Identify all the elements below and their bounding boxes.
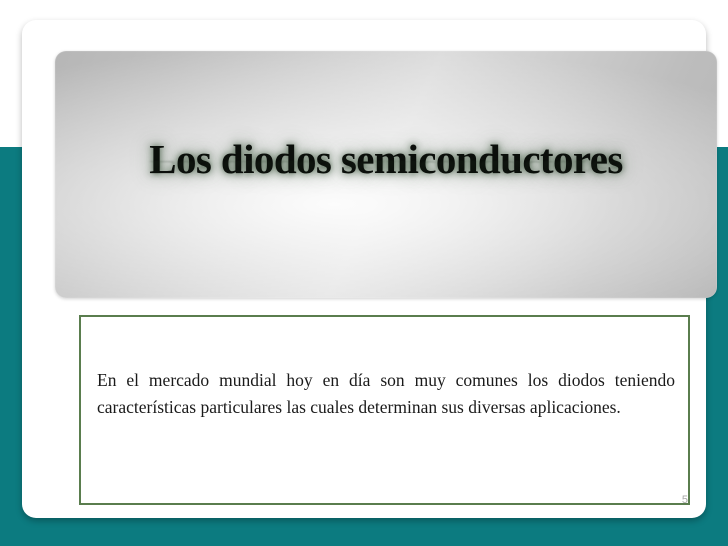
body-text-box: En el mercado mundial hoy en día son muy…	[79, 315, 690, 505]
body-paragraph: En el mercado mundial hoy en día son muy…	[97, 367, 675, 421]
slide-content-card: Los diodos semiconductores Los diodos se…	[22, 20, 706, 518]
slide-title-reflection: Los diodos semiconductores	[55, 157, 717, 182]
presentation-slide: Los diodos semiconductores Los diodos se…	[0, 0, 728, 546]
title-block: Los diodos semiconductores Los diodos se…	[55, 139, 717, 223]
slide-number: 5	[682, 494, 688, 506]
title-banner: Los diodos semiconductores Los diodos se…	[55, 51, 717, 298]
